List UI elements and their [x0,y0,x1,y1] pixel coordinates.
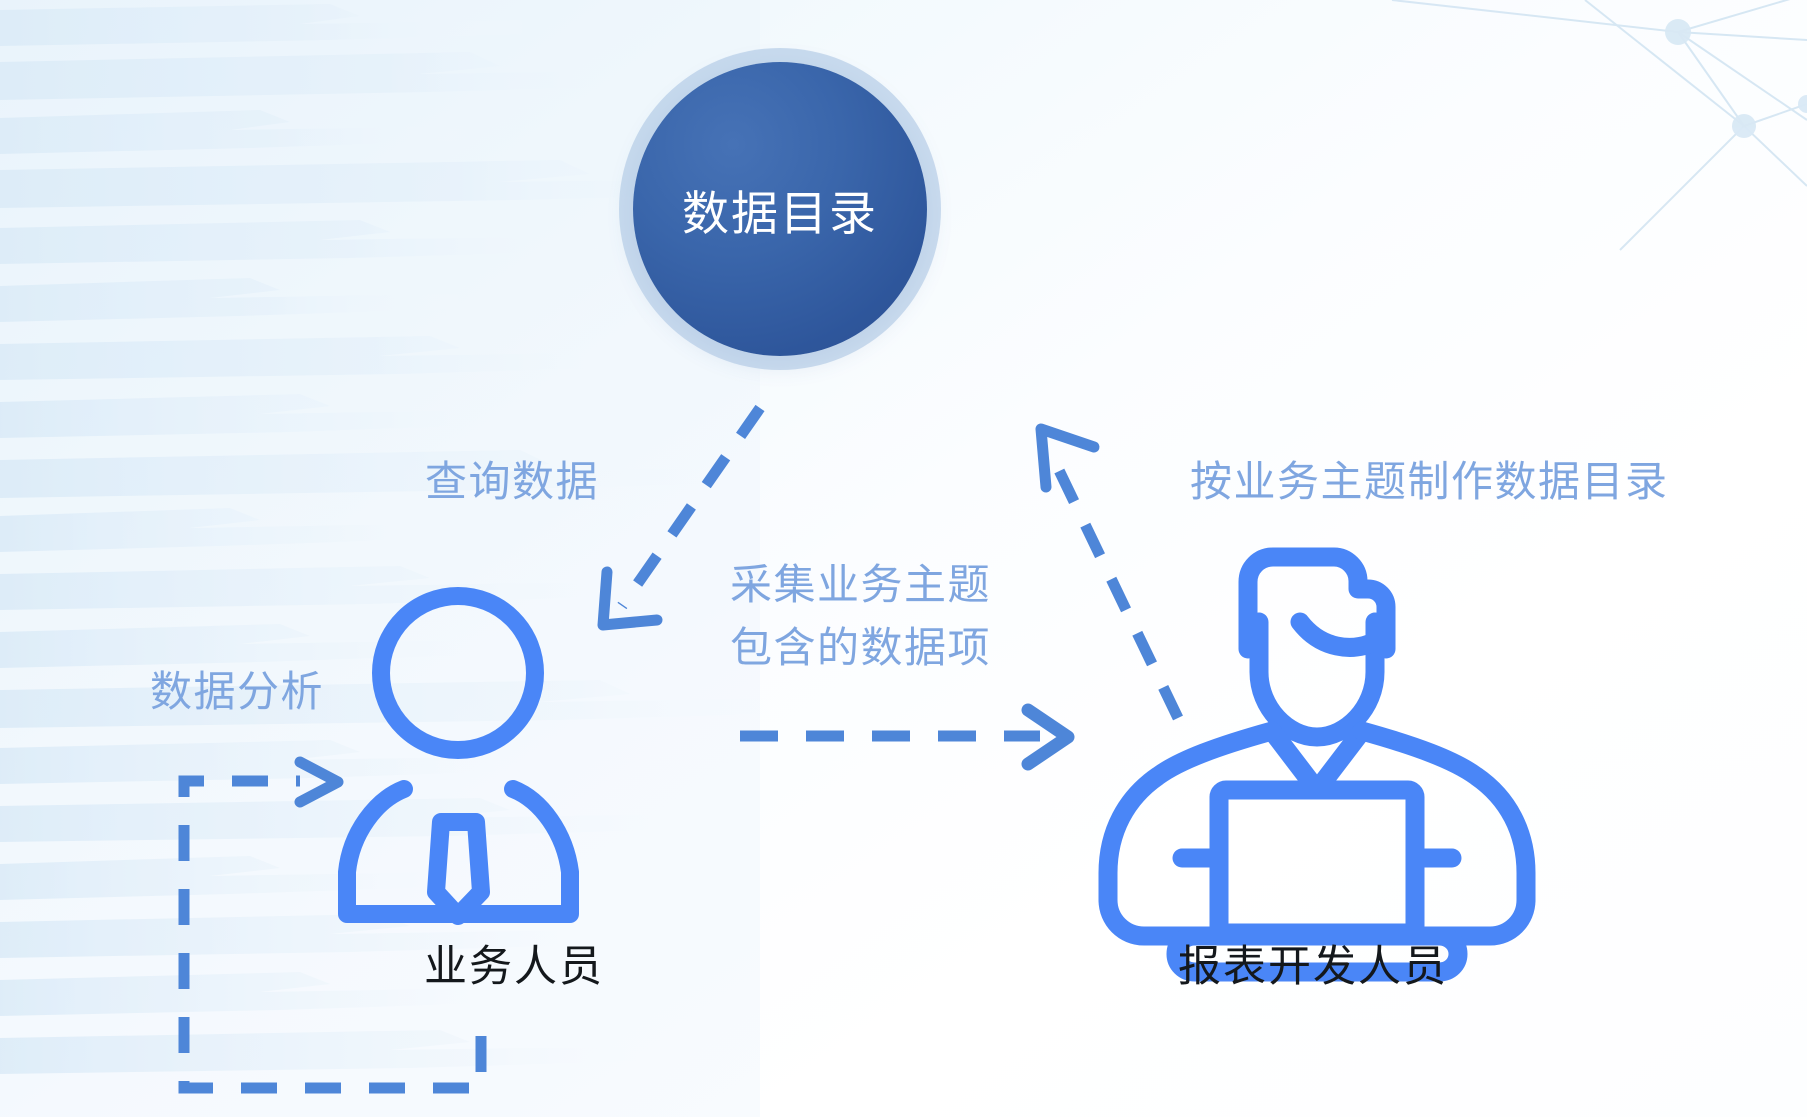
diagram-canvas: 数据目录 查询数据 采集业务主题 包含的数据项 按业务主题制作数据目录 数据分析… [0,0,1807,1117]
edge-label-collect-items-line2: 包含的数据项 [730,616,1030,679]
actor-label-business-user: 业务人员 [424,932,604,994]
edge-label-build-catalog: 按业务主题制作数据目录 [1190,448,1669,509]
edge-label-collect-items: 采集业务主题 包含的数据项 [730,553,1030,679]
actor-label-report-developer: 报表开发人员 [1178,932,1448,994]
hub-node-data-catalog[interactable]: 数据目录 [633,62,927,356]
edge-build-catalog [1041,429,1178,718]
person-with-tie-icon [347,596,570,916]
edge-data-analysis-loop [184,762,481,1088]
person-with-laptop-icon [1108,557,1526,972]
hub-node-label: 数据目录 [682,175,878,244]
edge-label-collect-items-line1: 采集业务主题 [730,553,1030,616]
edge-label-data-analysis: 数据分析 [150,658,324,719]
edge-label-query-data: 查询数据 [425,448,599,509]
edge-collect-items [740,710,1068,764]
